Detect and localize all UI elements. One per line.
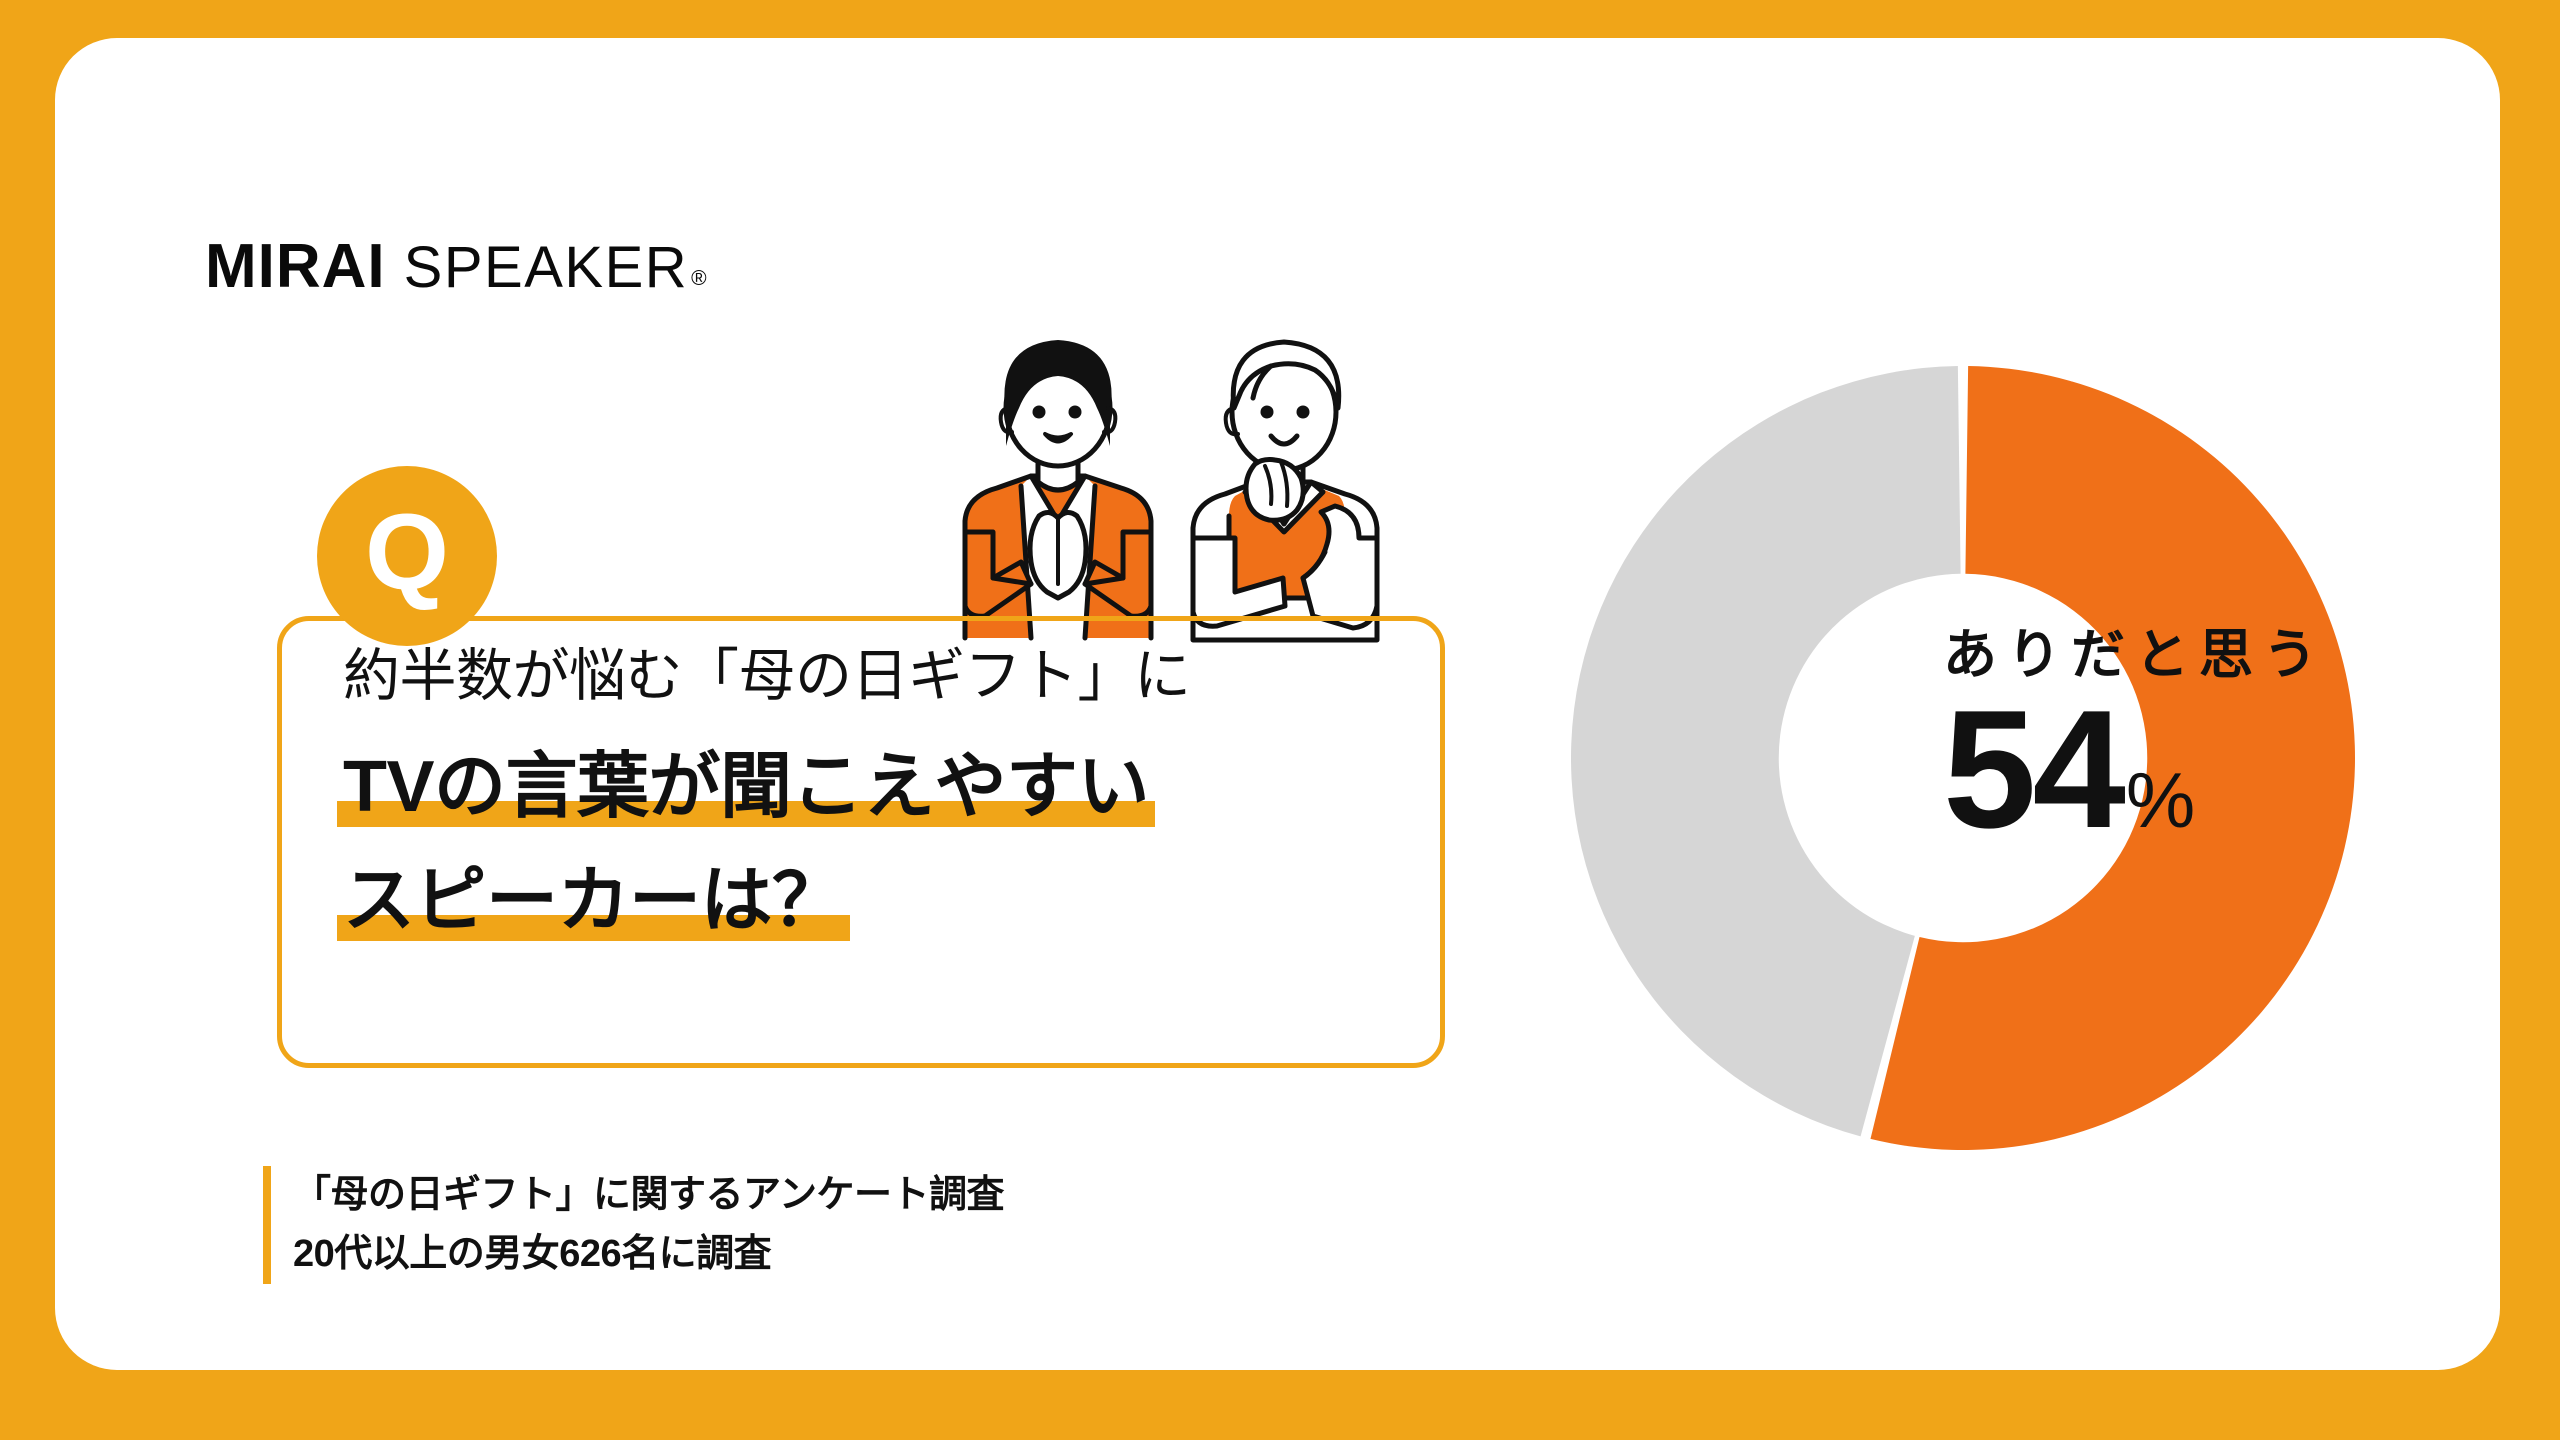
question-mainline-2: スピーカーは？ — [343, 865, 1403, 937]
question-subline: 約半数が悩む「母の日ギフト」に — [343, 648, 1403, 705]
infographic-root: MIRAI SPEAKER ® — [0, 0, 2560, 1440]
question-mainline-1: TVの言葉が聞こえやすい — [343, 751, 1403, 823]
question-mainline-2-text: スピーカーは？ — [343, 865, 844, 937]
caption-line-1: 「母の日ギフト」に関するアンケート調査 — [293, 1166, 1004, 1225]
caption-accent-bar — [263, 1166, 271, 1284]
question-badge: Q — [317, 466, 497, 646]
caption-line-2: 20代以上の男女626名に調査 — [293, 1225, 1004, 1284]
logo-primary-text: MIRAI — [205, 236, 386, 298]
donut-value-unit: % — [2126, 761, 2195, 839]
content-card: MIRAI SPEAKER ® — [55, 38, 2500, 1370]
donut-value-number: 54 — [1943, 692, 2122, 847]
question-badge-letter: Q — [365, 498, 449, 606]
donut-category-label: ありだと思う — [1943, 628, 2423, 682]
donut-label-group: ありだと思う 54 % — [1943, 628, 2423, 847]
registered-trademark-icon: ® — [691, 267, 706, 291]
question-text-group: 約半数が悩む「母の日ギフト」に TVの言葉が聞こえやすい スピーカーは？ — [343, 648, 1403, 937]
two-people-illustration — [935, 316, 1415, 646]
caption-lines: 「母の日ギフト」に関するアンケート調査 20代以上の男女626名に調査 — [293, 1166, 1004, 1284]
donut-value-row: 54 % — [1943, 692, 2423, 847]
question-mainline-1-text: TVの言葉が聞こえやすい — [343, 751, 1149, 823]
brand-logo: MIRAI SPEAKER ® — [205, 236, 707, 298]
logo-secondary-text: SPEAKER — [404, 239, 689, 297]
survey-caption: 「母の日ギフト」に関するアンケート調査 20代以上の男女626名に調査 — [263, 1166, 1004, 1284]
